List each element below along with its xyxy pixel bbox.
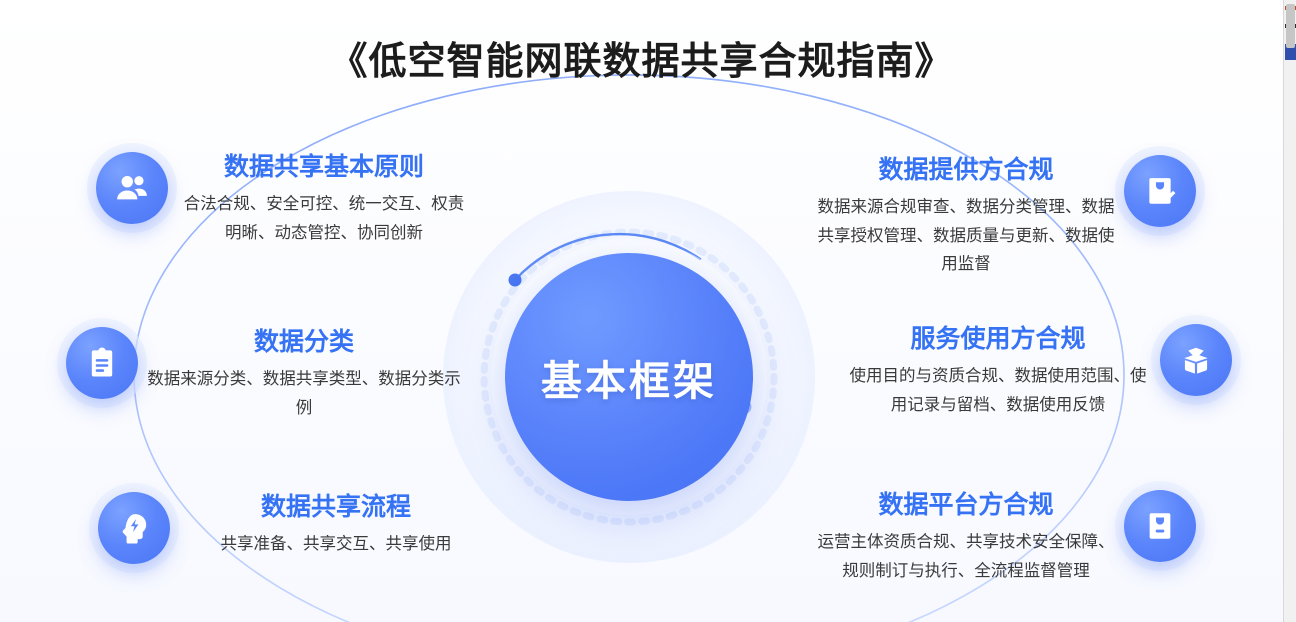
page-title: 《低空智能网联数据共享合规指南》 — [0, 30, 1283, 85]
item-left-2-desc: 数据来源分类、数据共享类型、数据分类示例 — [146, 365, 462, 422]
item-right-2-title: 服务使用方合规 — [844, 324, 1152, 355]
document-line-icon — [1124, 490, 1196, 562]
item-left-2-title: 数据分类 — [146, 327, 462, 358]
two-people-icon — [96, 152, 168, 224]
document-check-icon — [1124, 155, 1196, 227]
item-right-2-desc: 使用目的与资质合规、数据使用范围、使用记录与留档、数据使用反馈 — [844, 362, 1152, 419]
center-core-label: 基本框架 — [541, 347, 717, 407]
head-bolt-icon — [98, 492, 170, 564]
item-right-1-title: 数据提供方合规 — [816, 155, 1116, 186]
item-left-1-title: 数据共享基本原则 — [176, 152, 472, 183]
open-box-icon — [1160, 324, 1232, 396]
item-left-2-body: 数据分类 数据来源分类、数据共享类型、数据分类示例 — [146, 327, 462, 422]
item-right-2-body: 服务使用方合规 使用目的与资质合规、数据使用范围、使用记录与留档、数据使用反馈 — [844, 324, 1152, 419]
infographic-canvas: 《低空智能网联数据共享合规指南》 基本框架 数据共享基本原则 合法合规、安全可控… — [0, 0, 1296, 622]
item-right-1-desc: 数据来源合规审查、数据分类管理、数据共享授权管理、数据质量与更新、数据使用监督 — [816, 193, 1116, 278]
item-left-1-body: 数据共享基本原则 合法合规、安全可控、统一交互、权责明晰、动态管控、协同创新 — [176, 152, 472, 247]
vertical-scrollbar[interactable] — [1283, 0, 1296, 622]
item-left-1-desc: 合法合规、安全可控、统一交互、权责明晰、动态管控、协同创新 — [176, 190, 472, 247]
clipboard-lines-icon — [66, 327, 138, 399]
item-right-3-title: 数据平台方合规 — [816, 490, 1116, 521]
scrollbar-thumb[interactable] — [1286, 4, 1295, 48]
center-core: 基本框架 — [505, 253, 753, 501]
item-right-3-desc: 运营主体资质合规、共享技术安全保障、规则制订与执行、全流程监督管理 — [816, 528, 1116, 585]
item-right-3-body: 数据平台方合规 运营主体资质合规、共享技术安全保障、规则制订与执行、全流程监督管… — [816, 490, 1116, 585]
item-left-3-desc: 共享准备、共享交互、共享使用 — [178, 530, 494, 558]
item-right-1-body: 数据提供方合规 数据来源合规审查、数据分类管理、数据共享授权管理、数据质量与更新… — [816, 155, 1116, 278]
item-left-3-title: 数据共享流程 — [178, 492, 494, 523]
item-left-3-body: 数据共享流程 共享准备、共享交互、共享使用 — [178, 492, 494, 559]
